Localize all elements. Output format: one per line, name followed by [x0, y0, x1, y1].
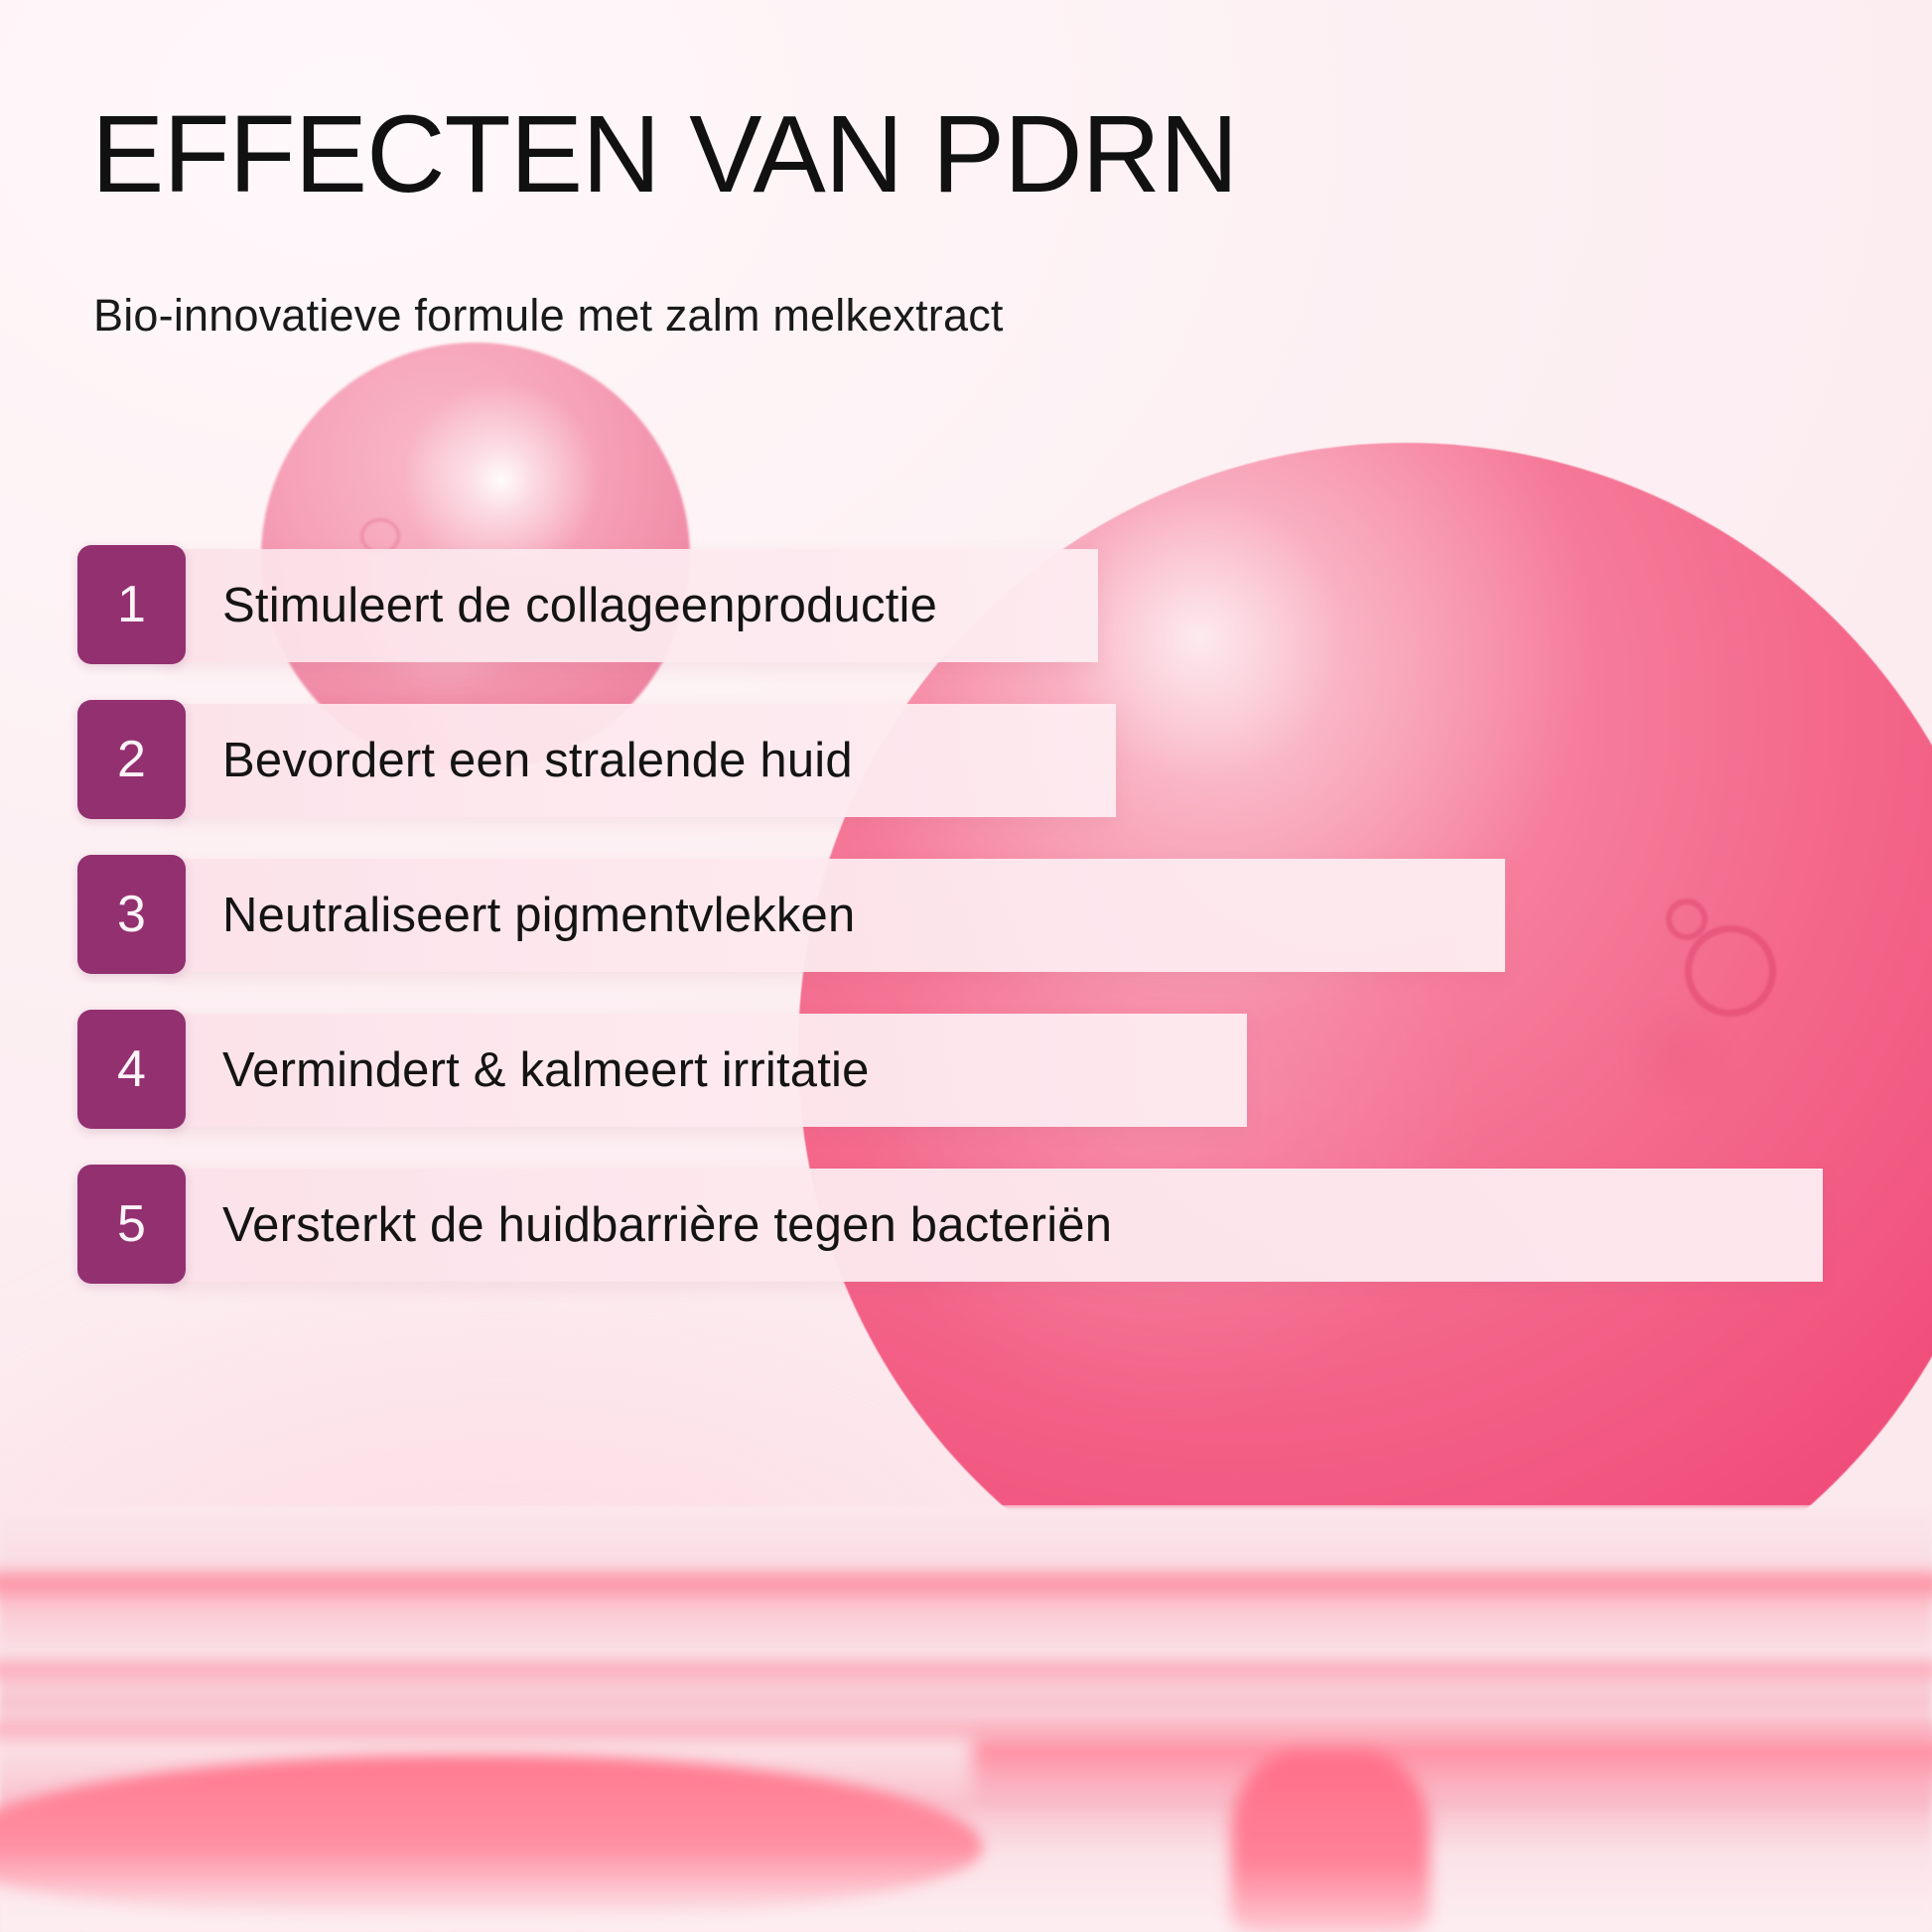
page-subtitle: Bio-innovatieve formule met zalm melkext…	[93, 288, 1004, 344]
benefit-label: Versterkt de huidbarrière tegen bacterië…	[222, 1201, 1112, 1250]
benefit-number-badge: 1	[77, 545, 186, 664]
list-item: Vermindert & kalmeert irritatie 4	[0, 1010, 1932, 1129]
benefits-list: Stimuleert de collageenproductie 1 Bevor…	[0, 545, 1932, 1319]
page-title: EFFECTEN VAN PDRN	[91, 96, 1237, 214]
benefit-bar: Bevordert een stralende huid	[165, 704, 1116, 817]
benefit-number-badge: 3	[77, 855, 186, 974]
list-item: Versterkt de huidbarrière tegen bacterië…	[0, 1165, 1932, 1284]
benefit-number-badge: 2	[77, 700, 186, 819]
list-item: Stimuleert de collageenproductie 1	[0, 545, 1932, 664]
benefit-number: 2	[117, 730, 146, 789]
benefit-bar: Versterkt de huidbarrière tegen bacterië…	[165, 1169, 1823, 1282]
benefit-label: Stimuleert de collageenproductie	[222, 582, 937, 630]
benefit-label: Bevordert een stralende huid	[222, 737, 853, 785]
list-item: Bevordert een stralende huid 2	[0, 700, 1932, 819]
benefit-number-badge: 4	[77, 1010, 186, 1129]
benefit-number: 5	[117, 1194, 146, 1254]
benefit-number: 3	[117, 885, 146, 944]
list-item: Neutraliseert pigmentvlekken 3	[0, 855, 1932, 974]
benefit-number: 4	[117, 1039, 146, 1099]
poster-content: EFFECTEN VAN PDRN Bio-innovatieve formul…	[0, 0, 1932, 1932]
benefit-bar: Stimuleert de collageenproductie	[165, 549, 1098, 662]
benefit-label: Neutraliseert pigmentvlekken	[222, 892, 855, 940]
benefit-label: Vermindert & kalmeert irritatie	[222, 1046, 870, 1095]
benefit-number-badge: 5	[77, 1165, 186, 1284]
benefit-bar: Neutraliseert pigmentvlekken	[165, 859, 1505, 972]
benefit-number: 1	[117, 575, 146, 634]
poster-canvas: EFFECTEN VAN PDRN Bio-innovatieve formul…	[0, 0, 1932, 1932]
benefit-bar: Vermindert & kalmeert irritatie	[165, 1014, 1247, 1127]
